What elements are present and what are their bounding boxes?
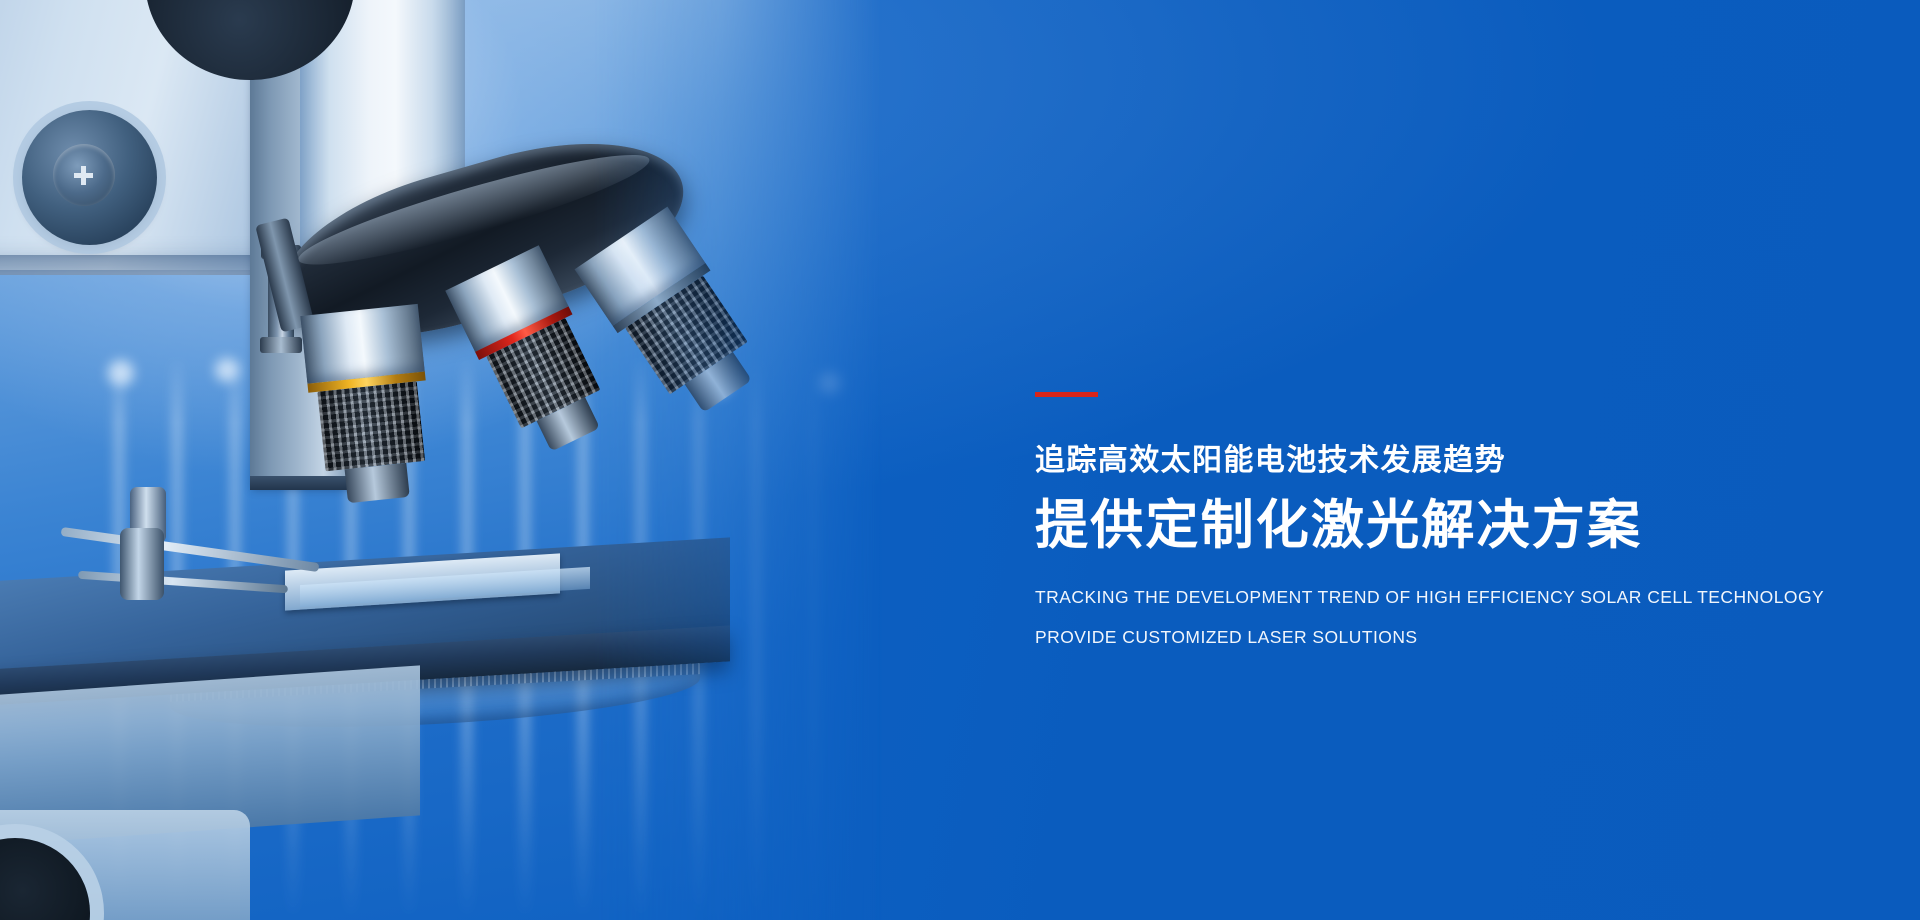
light-blob xyxy=(108,360,134,386)
hero-banner: 追踪高效太阳能电池技术发展趋势 提供定制化激光解决方案 TRACKING THE… xyxy=(0,0,1920,920)
hero-copy-block: 追踪高效太阳能电池技术发展趋势 提供定制化激光解决方案 TRACKING THE… xyxy=(1035,392,1855,646)
hero-subtext-en-line2: PROVIDE CUSTOMIZED LASER SOLUTIONS xyxy=(1035,629,1855,647)
microscope-photo xyxy=(0,0,900,920)
objective-barrel xyxy=(300,304,424,384)
body-screw-plate xyxy=(22,110,157,245)
light-blob xyxy=(820,372,842,394)
objective-lens-yellow xyxy=(300,304,437,506)
objective-knurled-grip xyxy=(318,381,425,471)
light-blob xyxy=(215,358,239,382)
red-accent-bar xyxy=(1035,392,1098,397)
objective-front-lens xyxy=(345,463,410,503)
hero-subtitle-cn: 追踪高效太阳能电池技术发展趋势 xyxy=(1035,446,1855,476)
hero-subtext-en-line1: TRACKING THE DEVELOPMENT TREND OF HIGH E… xyxy=(1035,589,1855,607)
stage-clip-knob xyxy=(120,528,164,600)
hero-headline-cn: 提供定制化激光解决方案 xyxy=(1035,498,1855,554)
